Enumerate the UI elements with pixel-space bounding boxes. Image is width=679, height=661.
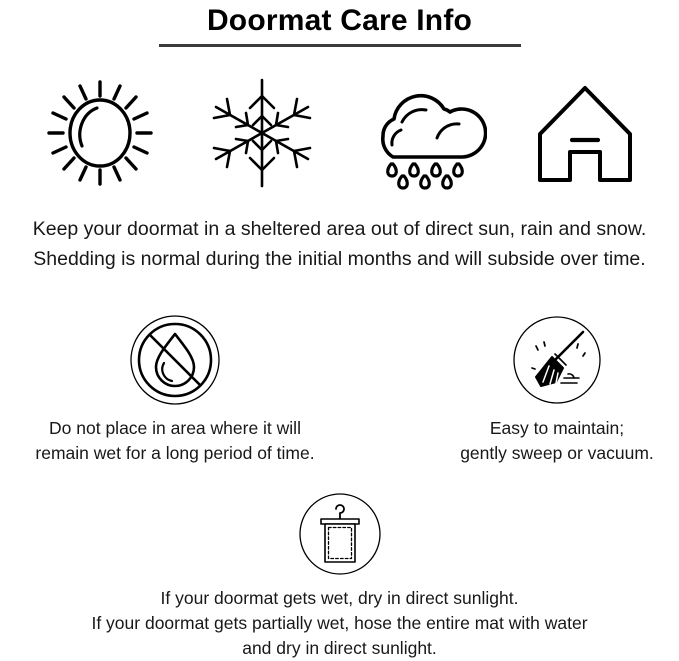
intro-line-2: Shedding is normal during the initial mo… [0, 244, 679, 274]
intro-line-1: Keep your doormat in a sheltered area ou… [0, 214, 679, 244]
intro-paragraph: Keep your doormat in a sheltered area ou… [0, 214, 679, 274]
no-water-icon [5, 312, 345, 408]
care-caption-line-2: gently sweep or vacuum. [387, 441, 679, 466]
snowflake-icon [197, 72, 327, 194]
broom-icon [387, 312, 679, 408]
page-title: Doormat Care Info [0, 0, 679, 39]
care-caption-line-2: remain wet for a long period of time. [5, 441, 345, 466]
dry-instructions-block: If your doormat gets wet, dry in direct … [0, 488, 679, 661]
dry-caption: If your doormat gets wet, dry in direct … [0, 586, 679, 661]
rain-cloud-icon [357, 72, 487, 194]
care-caption-easy-maintain: Easy to maintain; gently sweep or vacuum… [387, 416, 679, 466]
doormat-care-info-page: Doormat Care Info [0, 0, 679, 655]
care-instructions-row: Do not place in area where it will remai… [0, 312, 679, 462]
hang-dry-icon [0, 488, 679, 580]
care-caption-line-1: Easy to maintain; [387, 416, 679, 441]
title-block: Doormat Care Info [0, 0, 679, 47]
dry-caption-line-2: If your doormat gets partially wet, hose… [0, 611, 679, 636]
care-item-no-standing-water: Do not place in area where it will remai… [5, 312, 345, 466]
care-item-easy-maintain: Easy to maintain; gently sweep or vacuum… [387, 312, 679, 466]
care-caption-line-1: Do not place in area where it will [5, 416, 345, 441]
dry-caption-line-3: and dry in direct sunlight. [0, 636, 679, 661]
sun-icon [35, 72, 165, 194]
dry-caption-line-1: If your doormat gets wet, dry in direct … [0, 586, 679, 611]
weather-icon-row [0, 72, 679, 194]
title-underline-rule [159, 44, 521, 47]
care-caption-no-standing-water: Do not place in area where it will remai… [5, 416, 345, 466]
house-icon [520, 72, 650, 194]
